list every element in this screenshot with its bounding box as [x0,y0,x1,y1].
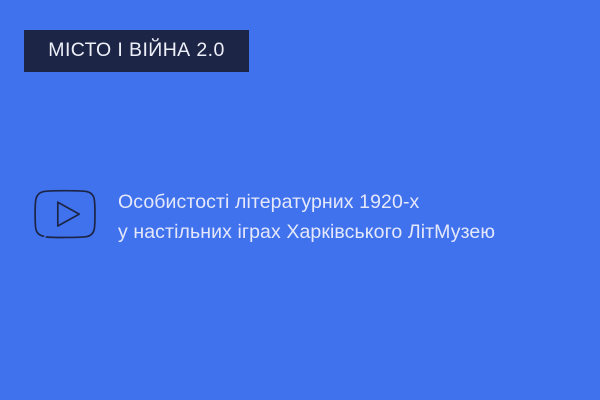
play-video-icon[interactable] [34,188,96,244]
slide-title-line-1: Особистості літературних 1920-х [118,187,495,217]
presentation-slide: МІСТО І ВІЙНА 2.0 Особистості літературн… [0,0,600,400]
brand-badge: МІСТО І ВІЙНА 2.0 [24,30,249,72]
slide-title: Особистості літературних 1920-х у настіл… [118,187,495,247]
brand-badge-label: МІСТО І ВІЙНА 2.0 [48,41,224,61]
slide-content: Особистості літературних 1920-х у настіл… [34,188,495,247]
slide-title-line-2: у настільних іграх Харківського ЛітМузею [118,217,495,247]
play-video-icon-glyph [34,189,96,239]
